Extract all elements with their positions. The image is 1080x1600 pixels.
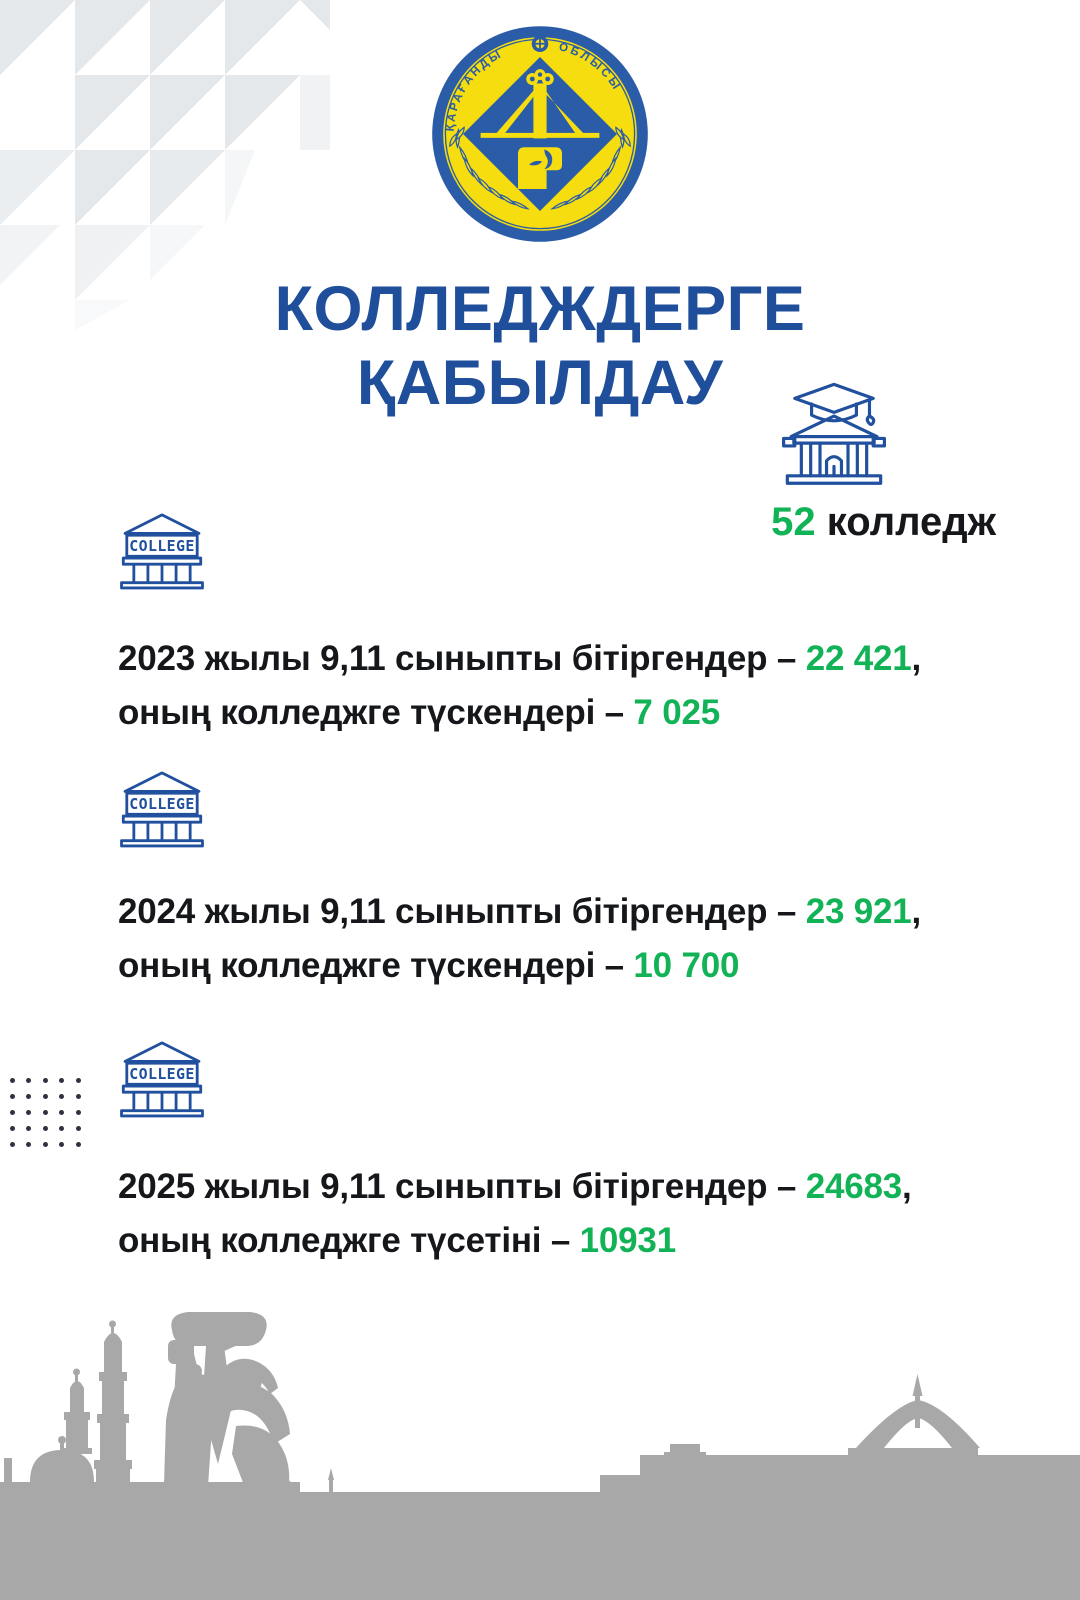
dot (10, 1110, 15, 1115)
dot (59, 1110, 64, 1115)
dot (43, 1142, 48, 1147)
dot (76, 1078, 81, 1083)
year-2023-line-1-suffix: , (912, 639, 922, 678)
dot (59, 1094, 64, 1099)
dot (59, 1142, 64, 1147)
year-2023-line-2-prefix: оның колледжге түскендері – (118, 693, 633, 732)
year-2025-line-2: оның колледжге түсетіні – 10931 (118, 1214, 1008, 1268)
dot (76, 1126, 81, 1131)
dot-grid-decoration (10, 1078, 92, 1158)
university-graduation-icon (778, 375, 890, 487)
dot (43, 1110, 48, 1115)
year-2024-line-1-prefix: 2024 жылы 9,11 сыныпты бітіргендер – (118, 892, 806, 931)
dot (76, 1094, 81, 1099)
college-count-value: 52 (771, 500, 816, 544)
dot (10, 1126, 15, 1131)
dot (26, 1078, 31, 1083)
college-count-label: колледж (827, 500, 996, 544)
year-2025-line-1-suffix: , (902, 1167, 912, 1206)
college-icon-label: COLLEGE (129, 537, 194, 555)
college-building-icon: COLLEGE (118, 512, 206, 590)
dot (43, 1078, 48, 1083)
year-2024-line-1: 2024 жылы 9,11 сыныпты бітіргендер – 23 … (118, 885, 1008, 939)
year-2025-line-2-prefix: оның колледжге түсетіні – (118, 1221, 580, 1260)
year-2025-enrolled-value: 10931 (580, 1221, 676, 1260)
dot (10, 1142, 15, 1147)
dot (76, 1110, 81, 1115)
dot (59, 1126, 64, 1131)
dot (43, 1126, 48, 1131)
year-2025-line-1: 2025 жылы 9,11 сыныпты бітіргендер – 246… (118, 1160, 1008, 1214)
college-building-icon: COLLEGE (118, 1040, 206, 1118)
page-title-line-1: КОЛЛЕДЖДЕРГЕ (275, 274, 806, 344)
year-2024-line-2-prefix: оның колледжге түскендері – (118, 946, 633, 985)
year-2023-line-2: оның колледжге түскендері – 7 025 (118, 686, 1008, 740)
dot (26, 1094, 31, 1099)
college-building-icon: COLLEGE (118, 770, 206, 848)
year-2023-enrolled-value: 7 025 (633, 693, 720, 732)
year-2024-text: 2024 жылы 9,11 сыныпты бітіргендер – 23 … (118, 885, 1008, 994)
year-2025-graduates-value: 24683 (806, 1167, 902, 1206)
year-2023-line-1: 2023 жылы 9,11 сыныпты бітіргендер – 22 … (118, 632, 1008, 686)
year-2025-text: 2025 жылы 9,11 сыныпты бітіргендер – 246… (118, 1160, 1008, 1269)
page-title-line-2: ҚАБЫЛДАУ (0, 346, 1080, 420)
dot (10, 1094, 15, 1099)
college-count-line: 52 колледж (771, 500, 996, 545)
dot (59, 1078, 64, 1083)
page-title: КОЛЛЕДЖДЕРГЕ ҚАБЫЛДАУ (0, 272, 1080, 421)
dot (26, 1110, 31, 1115)
dot (26, 1142, 31, 1147)
infographic-page: ҚАРАҒАНДЫ ОБЛЫСЫ (0, 0, 1080, 1600)
year-2025-line-1-prefix: 2025 жылы 9,11 сыныпты бітіргендер – (118, 1167, 806, 1206)
year-2024-line-2: оның колледжге түскендері – 10 700 (118, 939, 1008, 993)
dot (76, 1142, 81, 1147)
year-2024-graduates-value: 23 921 (806, 892, 912, 931)
year-2024-enrolled-value: 10 700 (633, 946, 739, 985)
city-skyline-silhouette (0, 1270, 1080, 1600)
year-2023-line-1-prefix: 2023 жылы 9,11 сыныпты бітіргендер – (118, 639, 806, 678)
dot (26, 1126, 31, 1131)
college-icon-label: COLLEGE (129, 795, 194, 813)
year-2023-graduates-value: 22 421 (806, 639, 912, 678)
college-icon-label: COLLEGE (129, 1065, 194, 1083)
year-2023-text: 2023 жылы 9,11 сыныпты бітіргендер – 22 … (118, 632, 1008, 741)
dot (43, 1094, 48, 1099)
year-2024-line-1-suffix: , (912, 892, 922, 931)
karaganda-region-coat-of-arms-emblem: ҚАРАҒАНДЫ ОБЛЫСЫ (430, 24, 650, 244)
dot (10, 1078, 15, 1083)
